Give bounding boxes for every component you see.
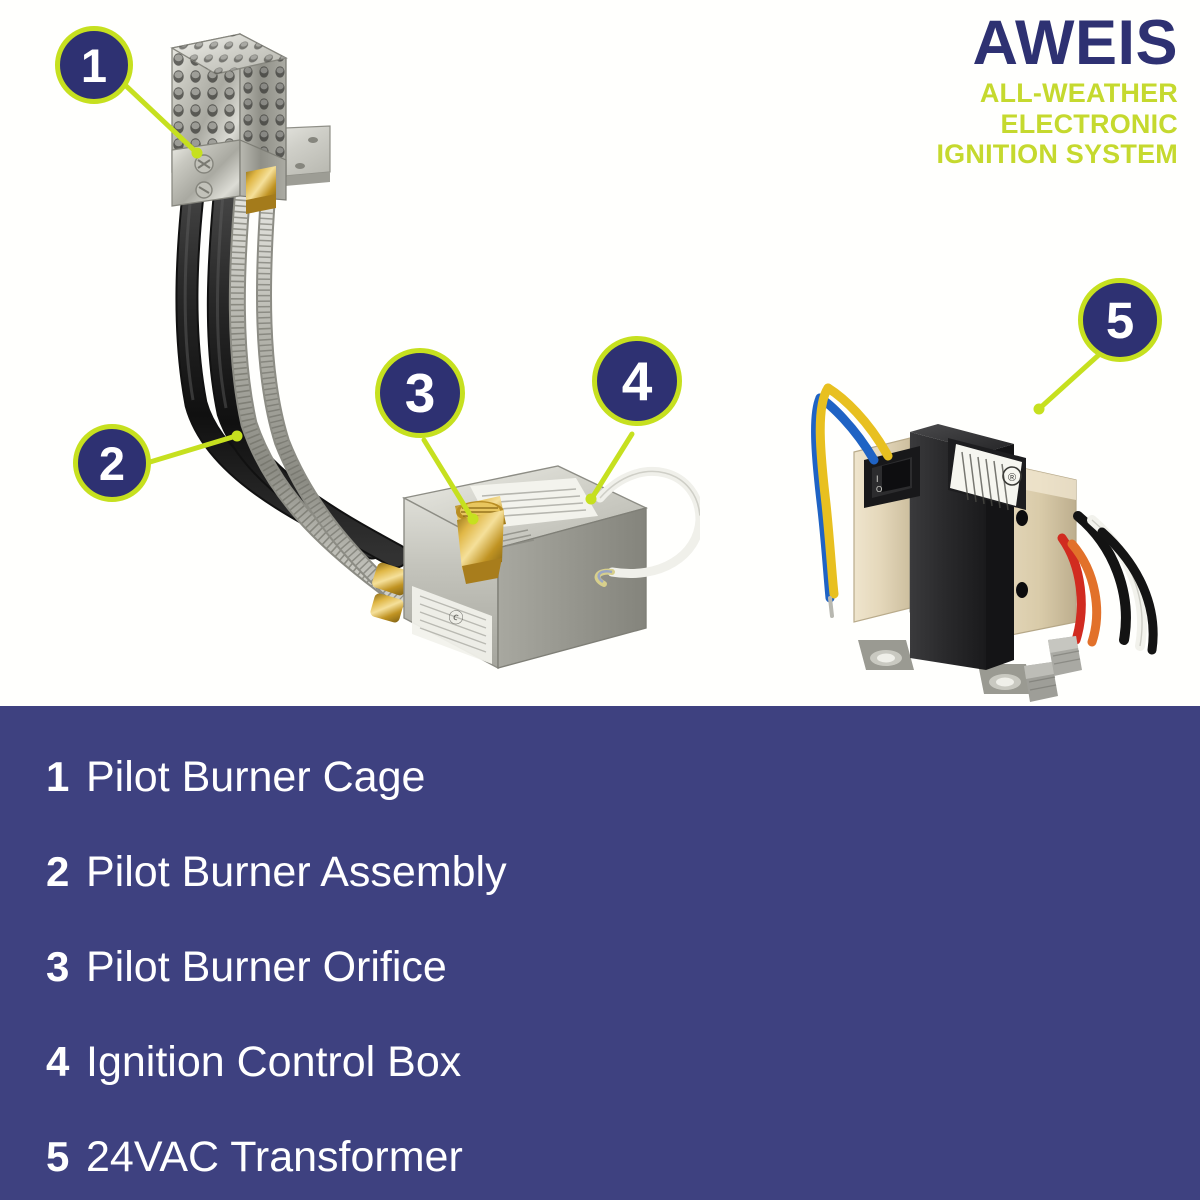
legend-label-4: Ignition Control Box: [86, 1041, 461, 1084]
callout-marker-4[interactable]: 4: [592, 336, 682, 426]
legend-label-3: Pilot Burner Orifice: [86, 946, 447, 989]
callout-marker-3[interactable]: 3: [375, 348, 465, 438]
legend-row-4: 4 Ignition Control Box: [0, 1041, 1200, 1084]
legend-panel: 1 Pilot Burner Cage 2 Pilot Burner Assem…: [0, 706, 1200, 1200]
callout-number-2: 2: [99, 440, 125, 487]
callout-number-3: 3: [405, 366, 436, 421]
legend-number-1: 1: [0, 756, 86, 798]
callout-marker-5[interactable]: 5: [1078, 278, 1162, 362]
legend-row-2: 2 Pilot Burner Assembly: [0, 851, 1200, 894]
legend-label-5: 24VAC Transformer: [86, 1136, 463, 1179]
legend-row-3: 3 Pilot Burner Orifice: [0, 946, 1200, 989]
diagram-canvas: ⓒ: [0, 0, 1200, 1200]
callout-number-5: 5: [1106, 295, 1134, 346]
legend-label-1: Pilot Burner Cage: [86, 756, 425, 799]
product-photo-area: ⓒ: [0, 0, 1200, 706]
legend-label-2: Pilot Burner Assembly: [86, 851, 507, 894]
callout-marker-1[interactable]: 1: [55, 26, 133, 104]
callout-marker-2[interactable]: 2: [73, 424, 151, 502]
callout-number-4: 4: [622, 354, 653, 409]
legend-row-1: 1 Pilot Burner Cage: [0, 756, 1200, 799]
legend-number-4: 4: [0, 1041, 86, 1083]
legend-number-2: 2: [0, 851, 86, 893]
legend-number-3: 3: [0, 946, 86, 988]
callout-number-1: 1: [81, 42, 107, 89]
legend-row-5: 5 24VAC Transformer: [0, 1136, 1200, 1179]
legend-number-5: 5: [0, 1136, 86, 1178]
